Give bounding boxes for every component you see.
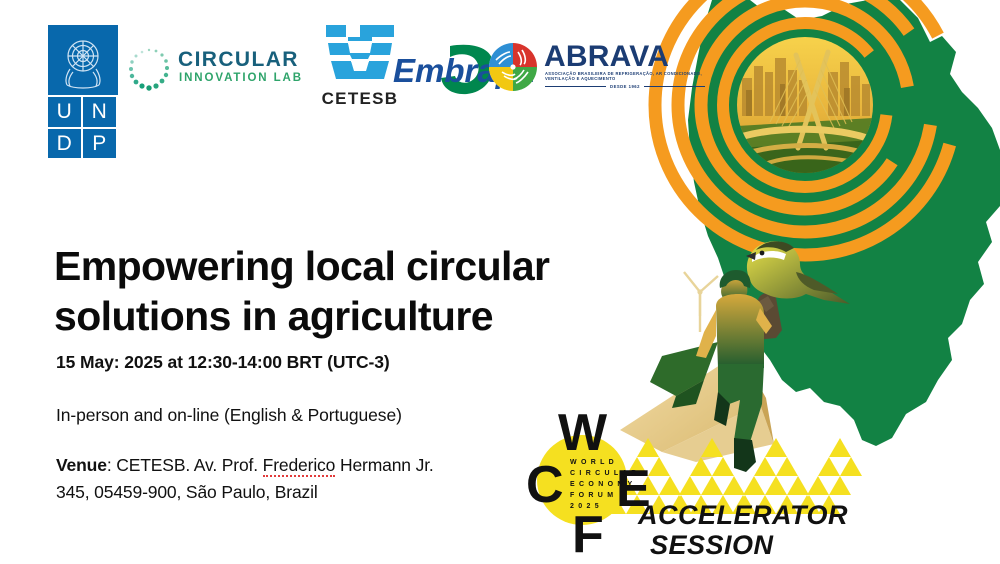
logo-wcef-accelerator: W C E F W O R L D C I R C U L A R E C O … (520, 402, 920, 564)
wcef-letter-w: W (558, 404, 608, 462)
un-emblem-icon (48, 25, 118, 95)
event-mode: In-person and on-line (English & Portugu… (56, 405, 402, 426)
page-title: Empowering local circular solutions in a… (54, 241, 694, 341)
wcef-logo-graphic: W C E F W O R L D C I R C U L A R E C O … (520, 402, 920, 564)
wcef-inner-line-5: 2 0 2 5 (570, 503, 600, 510)
city-photo (737, 37, 873, 173)
venue-text-part1: : CETESB. Av. Prof. (107, 455, 263, 475)
cetesb-wordmark: CETESB (316, 89, 404, 109)
abrava-wordmark: ABRAVA (544, 40, 669, 74)
undp-letter-d: D (48, 129, 81, 159)
venue-spellcheck-word: Frederico (263, 455, 336, 477)
abrava-tagline: ASSOCIAÇÃO BRASILEIRA DE REFRIGERAÇÃO, A… (545, 71, 705, 82)
rule-right (644, 86, 705, 87)
cil-wordmark-line2: INNOVATION LAB (179, 72, 303, 84)
wcef-letter-f: F (572, 506, 604, 564)
wcef-inner-line-3: E C O N O M Y (570, 481, 633, 488)
venue-line-2: 345, 05459-900, São Paulo, Brazil (56, 482, 318, 502)
abrava-since: DESDE 1962 (610, 84, 640, 89)
wcef-accelerator-text: ACCELERATOR (637, 500, 848, 530)
abrava-since-row: DESDE 1962 (545, 84, 705, 89)
wcef-letter-c: C (526, 456, 564, 514)
cil-wordmark-line1: CIRCULAR (178, 48, 299, 72)
venue-text-part2: Hermann Jr. (335, 455, 433, 475)
cetesb-mark-icon (324, 23, 396, 85)
undp-letters: U N D P (48, 97, 118, 160)
wcef-inner-line-1: W O R L D (570, 459, 615, 466)
logo-undp: U N D P (48, 25, 118, 160)
circular-dots-icon (126, 46, 172, 92)
undp-letter-p: P (83, 129, 116, 159)
wcef-inner-line-4: F O R U M (570, 492, 614, 499)
event-venue: Venue: CETESB. Av. Prof. Frederico Herma… (56, 452, 536, 506)
undp-letter-n: N (83, 97, 116, 127)
logo-abrava: ABRAVA ASSOCIAÇÃO BRASILEIRA DE REFRIGER… (488, 40, 708, 100)
logo-circular-innovation-lab: CIRCULAR INNOVATION LAB (126, 46, 311, 94)
venue-label: Venue (56, 455, 107, 475)
rule-left (545, 86, 606, 87)
event-datetime: 15 May: 2025 at 12:30-14:00 BRT (UTC-3) (56, 352, 390, 373)
wcef-session-text: SESSION (650, 530, 774, 560)
event-poster: U N D P (0, 0, 1000, 564)
abrava-wheel-icon (488, 42, 538, 92)
undp-letter-u: U (48, 97, 81, 127)
wcef-inner-line-2: C I R C U L A R (570, 470, 638, 477)
logo-cetesb: CETESB (316, 23, 404, 123)
